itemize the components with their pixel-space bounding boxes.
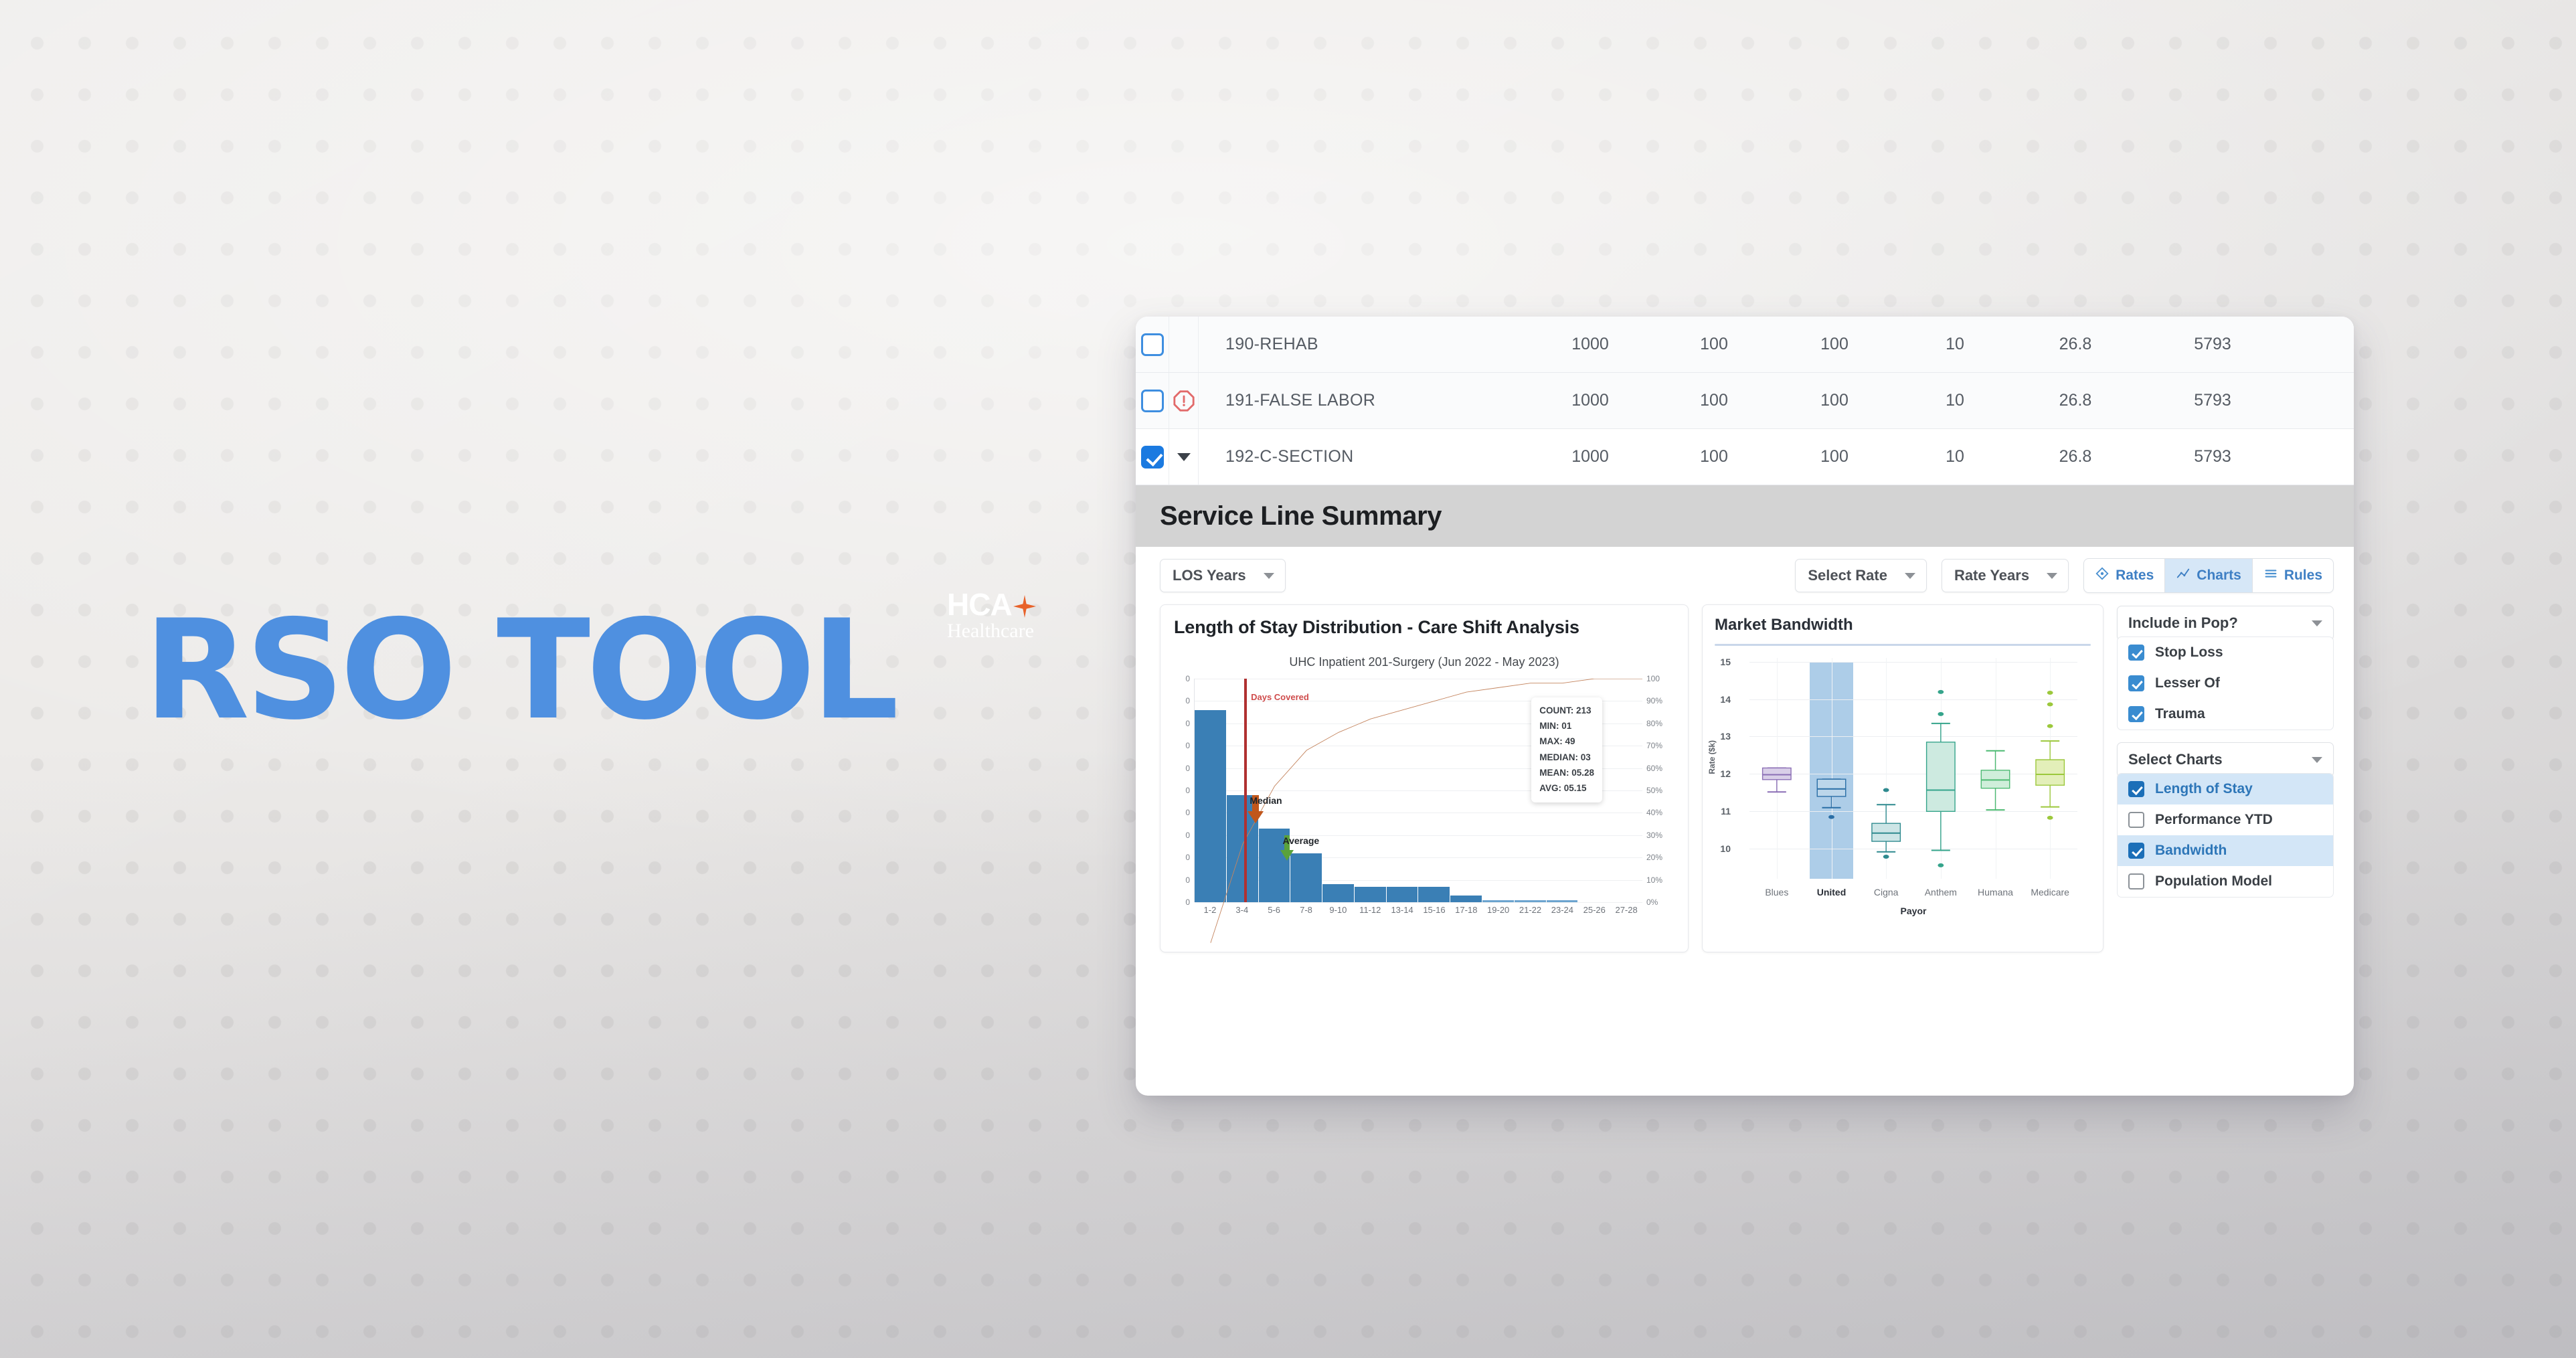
list-item[interactable]: Stop Loss <box>2118 637 2333 668</box>
x-axis-tick: 11-12 <box>1354 905 1386 926</box>
list-item[interactable]: Performance YTD <box>2118 804 2333 835</box>
checkbox[interactable] <box>2128 843 2144 859</box>
include-in-pop-dropdown[interactable]: Include in Pop? <box>2117 606 2334 641</box>
table-row[interactable]: 192-C-SECTION 1000 100 100 10 26.8 5793 <box>1136 429 2354 485</box>
los-stats-tooltip: COUNT: 213MIN: 01MAX: 49MEDIAN: 03MEAN: … <box>1531 697 1602 802</box>
chevron-down-icon[interactable] <box>1177 453 1191 461</box>
x-axis-tick: 19-20 <box>1482 905 1515 926</box>
los-x-axis-labels: 1-23-45-67-89-1011-1213-1415-1617-1819-2… <box>1194 905 1642 926</box>
select-rate-dropdown[interactable]: Select Rate <box>1795 559 1927 592</box>
item-label: Stop Loss <box>2155 645 2223 661</box>
boxplot-anthem <box>1927 690 1955 867</box>
x-axis-tick: 15-16 <box>1418 905 1450 926</box>
item-label: Bandwidth <box>2155 843 2227 859</box>
cell-v5: 26.8 <box>2015 335 2136 354</box>
cell-service-line: 190-REHAB <box>1199 335 1527 354</box>
y-axis-right-tick: 90% <box>1646 696 1662 705</box>
cell-v3: 100 <box>1774 391 1895 410</box>
los-plot-area: Days Covered Median Average COUNT: 213MI <box>1194 679 1642 902</box>
y-axis-right-tick: 30% <box>1646 831 1662 840</box>
y-axis-right-tick: 0% <box>1646 898 1658 907</box>
cell-v2: 100 <box>1654 335 1774 354</box>
boxplot-series <box>1749 658 2077 879</box>
x-axis-tick: 1-2 <box>1194 905 1226 926</box>
stat-min: MIN: 01 <box>1539 718 1594 734</box>
cell-service-line: 191-FALSE LABOR <box>1199 391 1527 410</box>
list-icon <box>2263 566 2278 585</box>
page-title: RSO TOOL <box>144 606 895 736</box>
chevron-down-icon <box>2312 620 2322 626</box>
length-of-stay-chart-card: Length of Stay Distribution - Care Shift… <box>1160 604 1689 952</box>
tab-rates[interactable]: Rates <box>2084 559 2165 592</box>
bandwidth-x-axis-label: Payor <box>1749 906 2077 916</box>
y-axis-right-tick: 70% <box>1646 741 1662 750</box>
los-years-dropdown[interactable]: LOS Years <box>1160 559 1286 592</box>
x-axis-tick: 3-4 <box>1226 905 1258 926</box>
include-in-pop-list: Stop Loss Lesser Of Trauma <box>2117 636 2334 730</box>
select-charts-label: Select Charts <box>2128 751 2223 768</box>
row-select-cell[interactable] <box>1136 429 1169 485</box>
include-in-pop-label: Include in Pop? <box>2128 614 2238 632</box>
service-line-table: 190-REHAB 1000 100 100 10 26.8 5793 <box>1136 317 2354 485</box>
stat-mean: MEAN: 05.28 <box>1539 765 1594 780</box>
cell-v5: 26.8 <box>2015 447 2136 466</box>
y-axis-right-tick: 20% <box>1646 853 1662 862</box>
x-axis-tick: Medicare <box>2031 887 2069 898</box>
view-toggle-group: Rates Charts <box>2083 558 2334 593</box>
x-axis-tick: 21-22 <box>1515 905 1547 926</box>
table-row[interactable]: 190-REHAB 1000 100 100 10 26.8 5793 <box>1136 317 2354 373</box>
tab-charts[interactable]: Charts <box>2165 559 2253 592</box>
toolbar-right-group: Select Rate Rate Years Rates <box>1795 558 2334 593</box>
select-charts-dropdown[interactable]: Select Charts <box>2117 742 2334 777</box>
boxplot-blues <box>1763 768 1791 792</box>
tag-icon <box>2095 566 2110 585</box>
y-axis-right-tick: 80% <box>1646 719 1662 728</box>
select-charts-list: Length of Stay Performance YTD Bandwidth… <box>2117 773 2334 898</box>
tab-charts-label: Charts <box>2197 568 2241 584</box>
checkbox[interactable] <box>2128 645 2144 661</box>
cell-v1: 1000 <box>1527 335 1654 354</box>
select-charts-group: Select Charts Length of Stay Performance… <box>2117 742 2334 898</box>
hca-star-icon <box>1013 595 1036 618</box>
los-chart-subtitle: UHC Inpatient 201-Surgery (Jun 2022 - Ma… <box>1174 655 1675 669</box>
cell-v6: 5793 <box>2136 335 2290 354</box>
x-axis-tick: 27-28 <box>1610 905 1642 926</box>
list-item[interactable]: Length of Stay <box>2118 774 2333 804</box>
x-axis-tick: Anthem <box>1925 887 1957 898</box>
y-axis-tick: 14 <box>1720 694 1731 705</box>
list-item[interactable]: Bandwidth <box>2118 835 2333 866</box>
median-label: Median <box>1250 795 1282 806</box>
y-axis-left-tick: 0 <box>1185 696 1190 705</box>
x-axis-tick: 7-8 <box>1290 905 1322 926</box>
x-axis-tick: 25-26 <box>1578 905 1610 926</box>
x-axis-tick: Humana <box>1978 887 2013 898</box>
y-axis-left-tick: 0 <box>1185 808 1190 817</box>
scatter-line-icon <box>2176 566 2191 585</box>
hca-healthcare-logo: HCA Healthcare <box>947 589 1047 641</box>
row-select-cell[interactable] <box>1136 317 1169 372</box>
days-covered-line <box>1244 679 1247 902</box>
x-axis-tick: United <box>1817 887 1847 898</box>
list-item[interactable]: Lesser Of <box>2118 668 2333 699</box>
row-checkbox[interactable] <box>1141 446 1164 469</box>
x-axis-tick: 23-24 <box>1546 905 1578 926</box>
average-annotation: Average <box>1280 835 1319 846</box>
table-row[interactable]: 191-FALSE LABOR 1000 100 100 10 26.8 579… <box>1136 373 2354 429</box>
cell-v2: 100 <box>1654 447 1774 466</box>
cell-v1: 1000 <box>1527 391 1654 410</box>
cell-v6: 5793 <box>2136 391 2290 410</box>
cell-v3: 100 <box>1774 447 1895 466</box>
checkbox[interactable] <box>2128 873 2144 889</box>
summary-title: Service Line Summary <box>1160 501 1442 531</box>
list-item[interactable]: Trauma <box>2118 699 2333 730</box>
item-label: Length of Stay <box>2155 781 2253 797</box>
item-label: Trauma <box>2155 706 2205 722</box>
y-axis-tick: 10 <box>1720 843 1731 854</box>
summary-header-band: Service Line Summary <box>1136 485 2354 547</box>
y-axis-tick: 11 <box>1721 806 1731 817</box>
row-flag-cell <box>1169 317 1199 372</box>
los-y-axis-left: 00000000000 <box>1174 679 1193 902</box>
cell-v4: 10 <box>1895 447 2015 466</box>
item-label: Performance YTD <box>2155 812 2273 828</box>
bandwidth-plot-area <box>1749 658 2077 879</box>
y-axis-right-tick: 40% <box>1646 808 1662 817</box>
y-axis-tick: 15 <box>1720 657 1731 667</box>
chart-toolbar: LOS Years Select Rate Rate Years <box>1136 547 2354 604</box>
stat-max: MAX: 49 <box>1539 734 1594 749</box>
cell-v5: 26.8 <box>2015 391 2136 410</box>
y-axis-left-tick: 0 <box>1185 831 1190 840</box>
list-item[interactable]: Population Model <box>2118 866 2333 897</box>
x-axis-tick: 13-14 <box>1386 905 1418 926</box>
median-annotation: Median <box>1247 795 1282 806</box>
bandwidth-chart-title: Market Bandwidth <box>1715 616 2091 634</box>
row-expand-cell[interactable] <box>1169 429 1199 485</box>
y-axis-left-tick: 0 <box>1185 764 1190 773</box>
los-years-label: LOS Years <box>1173 567 1246 584</box>
x-axis-tick: 17-18 <box>1450 905 1482 926</box>
y-axis-left-tick: 0 <box>1185 786 1190 795</box>
y-axis-right-tick: 10% <box>1646 875 1662 885</box>
y-axis-left-tick: 0 <box>1185 674 1190 683</box>
hca-subtitle: Healthcare <box>947 621 1047 641</box>
days-covered-label: Days Covered <box>1251 692 1309 702</box>
row-flag-cell[interactable] <box>1169 373 1199 428</box>
y-axis-left-tick: 0 <box>1185 741 1190 750</box>
chevron-down-icon <box>2312 757 2322 763</box>
stat-count: COUNT: 213 <box>1539 703 1594 718</box>
chevron-down-icon <box>1905 573 1915 579</box>
stat-avg: AVG: 05.15 <box>1539 780 1594 796</box>
row-select-cell[interactable] <box>1136 373 1169 428</box>
cell-v2: 100 <box>1654 391 1774 410</box>
y-axis-left-tick: 0 <box>1185 853 1190 862</box>
y-axis-right-tick: 100 <box>1646 674 1660 683</box>
y-axis-tick: 12 <box>1720 768 1731 779</box>
market-bandwidth-chart-card: Market Bandwidth Rate ($k) Payor 1011121… <box>1702 604 2103 952</box>
y-axis-left-tick: 0 <box>1185 898 1190 907</box>
cell-service-line: 192-C-SECTION <box>1199 447 1527 466</box>
app-window: 190-REHAB 1000 100 100 10 26.8 5793 <box>1136 317 2354 1096</box>
hca-wordmark: HCA <box>947 589 1012 620</box>
x-axis-tick: Blues <box>1765 887 1788 898</box>
tab-rates-label: Rates <box>2116 568 2154 584</box>
los-plot: 00000000000 Days Covered Median <box>1174 679 1675 926</box>
warning-icon[interactable] <box>1173 390 1195 412</box>
los-chart-title: Length of Stay Distribution - Care Shift… <box>1174 617 1675 638</box>
boxplot-cigna <box>1872 788 1900 858</box>
boxplot-humana <box>1981 751 2009 810</box>
rate-years-dropdown[interactable]: Rate Years <box>1942 559 2069 592</box>
row-checkbox[interactable] <box>1141 333 1164 356</box>
chart-controls-sidebar: Include in Pop? Stop Loss Lesser Of Trau… <box>2117 604 2334 952</box>
charts-body: Length of Stay Distribution - Care Shift… <box>1136 604 2354 952</box>
y-axis-right-tick: 50% <box>1646 786 1662 795</box>
cell-v6: 5793 <box>2136 447 2290 466</box>
stat-median: MEDIAN: 03 <box>1539 750 1594 765</box>
checkbox[interactable] <box>2128 781 2144 797</box>
item-label: Lesser Of <box>2155 675 2220 691</box>
checkbox[interactable] <box>2128 706 2144 722</box>
checkbox[interactable] <box>2128 675 2144 691</box>
include-in-pop-group: Include in Pop? Stop Loss Lesser Of Trau… <box>2117 606 2334 730</box>
bandwidth-plot: Rate ($k) Payor 101112131415BluesUnitedC… <box>1715 653 2091 920</box>
rate-years-label: Rate Years <box>1954 567 2029 584</box>
boxplot-medicare <box>2036 691 2064 820</box>
boxplot-united <box>1817 779 1845 819</box>
y-axis-left-tick: 0 <box>1185 719 1190 728</box>
y-axis-tick: 13 <box>1720 731 1731 742</box>
x-axis-tick: 9-10 <box>1322 905 1354 926</box>
cell-v1: 1000 <box>1527 447 1654 466</box>
cell-v4: 10 <box>1895 391 2015 410</box>
item-label: Population Model <box>2155 873 2272 889</box>
chevron-down-icon <box>1264 573 1274 579</box>
los-y-axis-right: 0%10%20%30%40%50%60%70%80%90%100 <box>1644 679 1675 902</box>
tab-rules[interactable]: Rules <box>2253 559 2333 592</box>
select-rate-label: Select Rate <box>1808 567 1887 584</box>
tab-rules-label: Rules <box>2284 568 2322 584</box>
bandwidth-y-axis-label: Rate ($k) <box>1707 740 1717 774</box>
cell-v4: 10 <box>1895 335 2015 354</box>
x-axis-tick: 5-6 <box>1258 905 1290 926</box>
x-axis-tick: Cigna <box>1874 887 1899 898</box>
cell-v3: 100 <box>1774 335 1895 354</box>
y-axis-right-tick: 60% <box>1646 764 1662 773</box>
divider <box>1715 644 2091 646</box>
hero-block: RSO TOOL HCA Healthcare <box>144 606 895 736</box>
row-checkbox[interactable] <box>1141 390 1164 412</box>
chevron-down-icon <box>2047 573 2057 579</box>
y-axis-left-tick: 0 <box>1185 875 1190 885</box>
checkbox[interactable] <box>2128 812 2144 828</box>
average-label: Average <box>1282 835 1319 846</box>
